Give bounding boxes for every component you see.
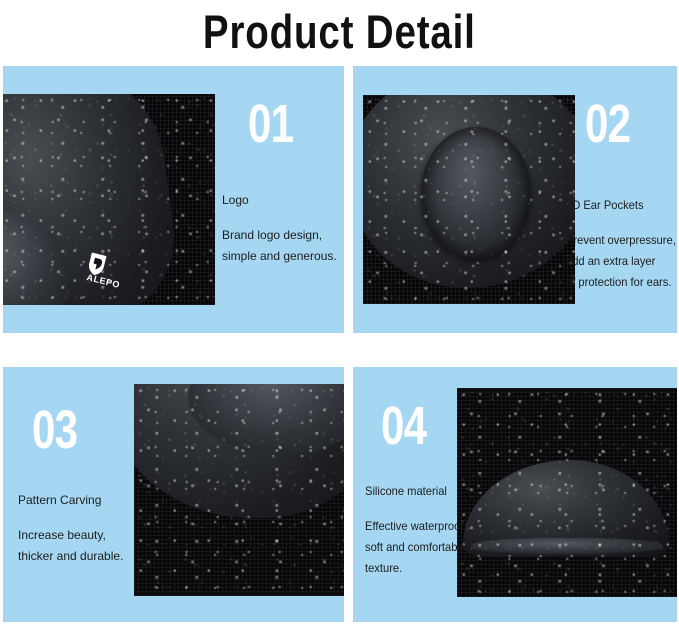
product-photo-04: [457, 388, 677, 597]
panel-body-04: Effective waterproof, soft and comfortab…: [365, 516, 469, 579]
panel-body-line: texture.: [365, 558, 469, 579]
panel-body-line: simple and generous.: [222, 246, 344, 267]
feature-panel-04: 04 Silicone material Effective waterproo…: [353, 367, 677, 622]
panel-body-03: Increase beauty, thicker and durable.: [18, 525, 136, 567]
page-title: Product Detail: [203, 8, 476, 55]
product-photo-02: [363, 95, 575, 304]
panel-body-line: Brand logo design,: [222, 225, 344, 246]
panel-heading-03: Pattern Carving: [18, 492, 136, 508]
panel-copy-02: 3D Ear Pockets Prevent overpressure, add…: [566, 197, 677, 293]
panel-body-line: Increase beauty,: [18, 525, 136, 546]
panel-number-02: 02: [585, 97, 630, 151]
panel-body-line: Prevent overpressure,: [566, 230, 670, 251]
panel-heading-04: Silicone material: [365, 483, 469, 499]
ear-pocket-dome: [421, 127, 531, 259]
panel-body-line: add an extra layer: [566, 251, 670, 272]
product-photo-03: [134, 384, 344, 596]
panel-body-line: of protection for ears.: [566, 272, 670, 293]
feature-panel-02: 02 3D Ear Pockets Prevent overpressure, …: [353, 66, 677, 333]
panel-copy-04: Silicone material Effective waterproof, …: [365, 483, 477, 579]
panel-number-03: 03: [32, 403, 77, 457]
panel-heading-02: 3D Ear Pockets: [566, 197, 670, 213]
panel-copy-01: Logo Brand logo design, simple and gener…: [222, 192, 344, 267]
panel-body-line: Effective waterproof,: [365, 516, 469, 537]
panel-body-line: soft and comfortable: [365, 537, 469, 558]
page-header: Product Detail: [0, 0, 679, 62]
panel-copy-03: Pattern Carving Increase beauty, thicker…: [18, 492, 136, 567]
swim-cap-brim: [471, 538, 663, 554]
panel-body-line: thicker and durable.: [18, 546, 136, 567]
panel-number-04: 04: [381, 399, 426, 453]
feature-panel-03: 03 Pattern Carving Increase beauty, thic…: [3, 367, 344, 622]
panel-body-02: Prevent overpressure, add an extra layer…: [566, 230, 670, 293]
panel-number-01: 01: [248, 97, 293, 151]
feature-panel-01: ALEPO 01 Logo Brand logo design, simple …: [3, 66, 344, 333]
panel-heading-01: Logo: [222, 192, 344, 208]
panel-body-01: Brand logo design, simple and generous.: [222, 225, 344, 267]
